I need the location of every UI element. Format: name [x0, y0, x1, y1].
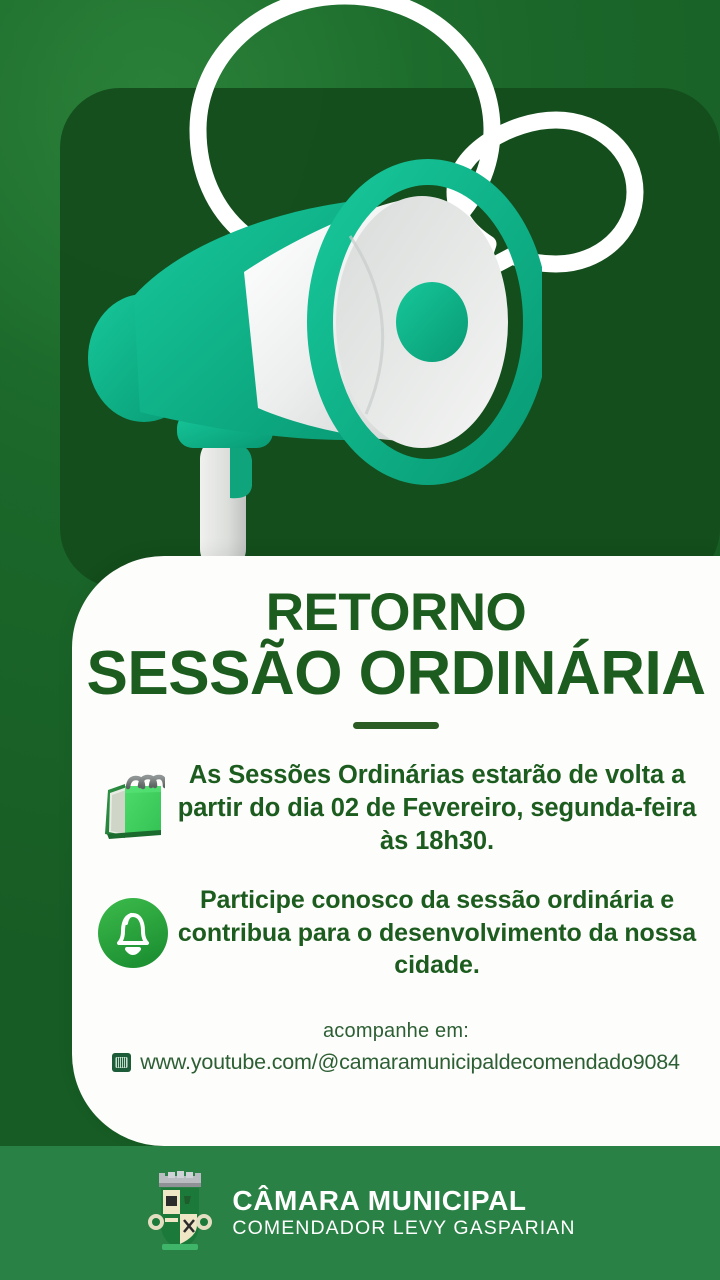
page-title: RETORNO SESSÃO ORDINÁRIA [72, 556, 720, 729]
info-row-schedule: As Sessões Ordinárias estarão de volta a… [90, 759, 698, 858]
coat-of-arms-icon [144, 1170, 216, 1256]
info-row-text: Participe conosco da sessão ordinária e … [176, 884, 698, 982]
youtube-url: www.youtube.com/@camaramunicipaldecomend… [140, 1050, 679, 1075]
info-row-participate: Participe conosco da sessão ordinária e … [90, 884, 698, 982]
megaphone-icon [72, 150, 542, 580]
poster: RETORNO SESSÃO ORDINÁRIA [0, 0, 720, 1280]
youtube-link[interactable]: www.youtube.com/@camaramunicipaldecomend… [72, 1050, 720, 1075]
footer-line-1: CÂMARA MUNICIPAL [232, 1186, 575, 1215]
title-divider [353, 722, 439, 729]
bell-icon [90, 896, 176, 970]
footer: CÂMARA MUNICIPAL COMENDADOR LEVY GASPARI… [0, 1146, 720, 1280]
youtube-icon [112, 1053, 131, 1072]
footer-text: CÂMARA MUNICIPAL COMENDADOR LEVY GASPARI… [232, 1186, 575, 1240]
follow-label: acompanhe em: [72, 1020, 720, 1043]
follow-block: acompanhe em: www.youtube.com/@camaramun… [72, 1020, 720, 1075]
title-line-2: SESSÃO ORDINÁRIA [72, 643, 720, 705]
calendar-icon [90, 774, 176, 844]
footer-line-2: COMENDADOR LEVY GASPARIAN [232, 1217, 575, 1239]
title-line-1: RETORNO [72, 586, 720, 639]
info-rows: As Sessões Ordinárias estarão de volta a… [72, 759, 720, 982]
content-card: RETORNO SESSÃO ORDINÁRIA [72, 556, 720, 1146]
info-row-text: As Sessões Ordinárias estarão de volta a… [176, 759, 698, 858]
